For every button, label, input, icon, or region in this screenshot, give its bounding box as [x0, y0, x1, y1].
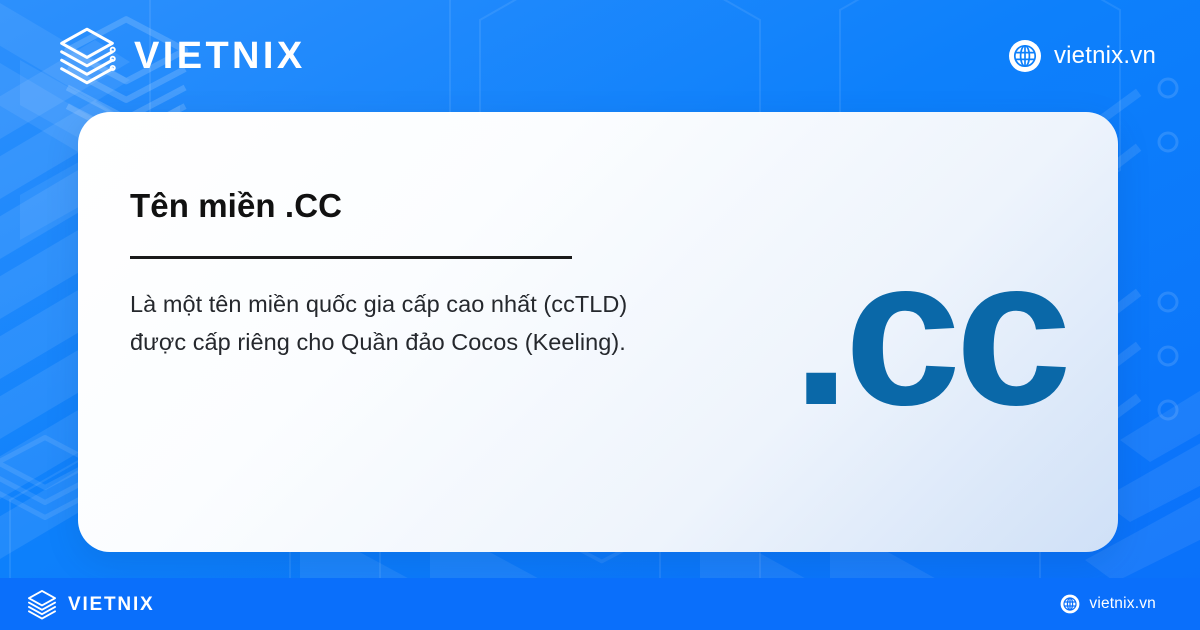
footer-brand-name: VIETNIX [68, 595, 155, 614]
banner-root: VIETNIX vietnix.vn [0, 0, 1200, 630]
title-divider [130, 256, 572, 259]
footer-site-link-text: vietnix.vn [1089, 595, 1156, 613]
footer-brand[interactable]: VIETNIX [26, 588, 155, 620]
header-site-link-text: vietnix.vn [1054, 42, 1156, 70]
card-description: Là một tên miền quốc gia cấp cao nhất (c… [130, 285, 630, 361]
header-brand-name: VIETNIX [134, 37, 306, 75]
page-title: Tên miền .CC [130, 186, 630, 226]
tld-label: .cc [792, 227, 1066, 437]
stacked-layers-icon [56, 25, 118, 87]
footer-site-link[interactable]: vietnix.vn [1060, 594, 1156, 614]
header-site-link[interactable]: vietnix.vn [1008, 39, 1156, 73]
page-header: VIETNIX vietnix.vn [0, 0, 1200, 112]
content-card: Tên miền .CC Là một tên miền quốc gia cấ… [78, 112, 1118, 552]
stacked-layers-icon [26, 588, 58, 620]
tld-graphic: .cc [792, 227, 1066, 437]
globe-icon [1008, 39, 1042, 73]
card-text-block: Tên miền .CC Là một tên miền quốc gia cấ… [130, 186, 630, 361]
page-footer: VIETNIX vietnix.vn [0, 578, 1200, 630]
header-brand[interactable]: VIETNIX [56, 25, 306, 87]
globe-icon [1060, 594, 1080, 614]
